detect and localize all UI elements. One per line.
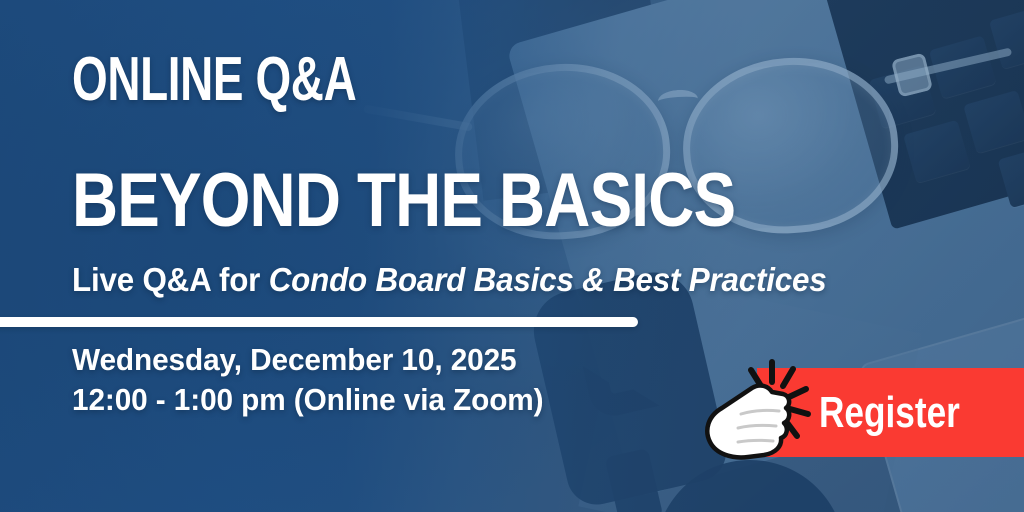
register-button-label: Register xyxy=(819,391,960,435)
divider-rule xyxy=(0,317,638,327)
kicker-text: ONLINE Q&A xyxy=(72,49,356,111)
event-time: 12:00 - 1:00 pm (Online via Zoom) xyxy=(72,380,543,420)
subtitle-lead: Live Q&A for xyxy=(72,261,269,298)
banner-content: ONLINE Q&A BEYOND THE BASICS Live Q&A fo… xyxy=(0,0,1024,512)
register-button[interactable]: Register xyxy=(757,368,1024,457)
page-title: BEYOND THE BASICS xyxy=(72,163,735,239)
subtitle-emphasis: Condo Board Basics & Best Practices xyxy=(269,261,827,298)
subtitle: Live Q&A for Condo Board Basics & Best P… xyxy=(72,262,827,299)
promo-banner: C ONLINE Q&A BEYOND THE BASICS Live Q&A … xyxy=(0,0,1024,512)
event-date: Wednesday, December 10, 2025 xyxy=(72,340,543,380)
event-datetime: Wednesday, December 10, 2025 12:00 - 1:0… xyxy=(72,340,543,419)
